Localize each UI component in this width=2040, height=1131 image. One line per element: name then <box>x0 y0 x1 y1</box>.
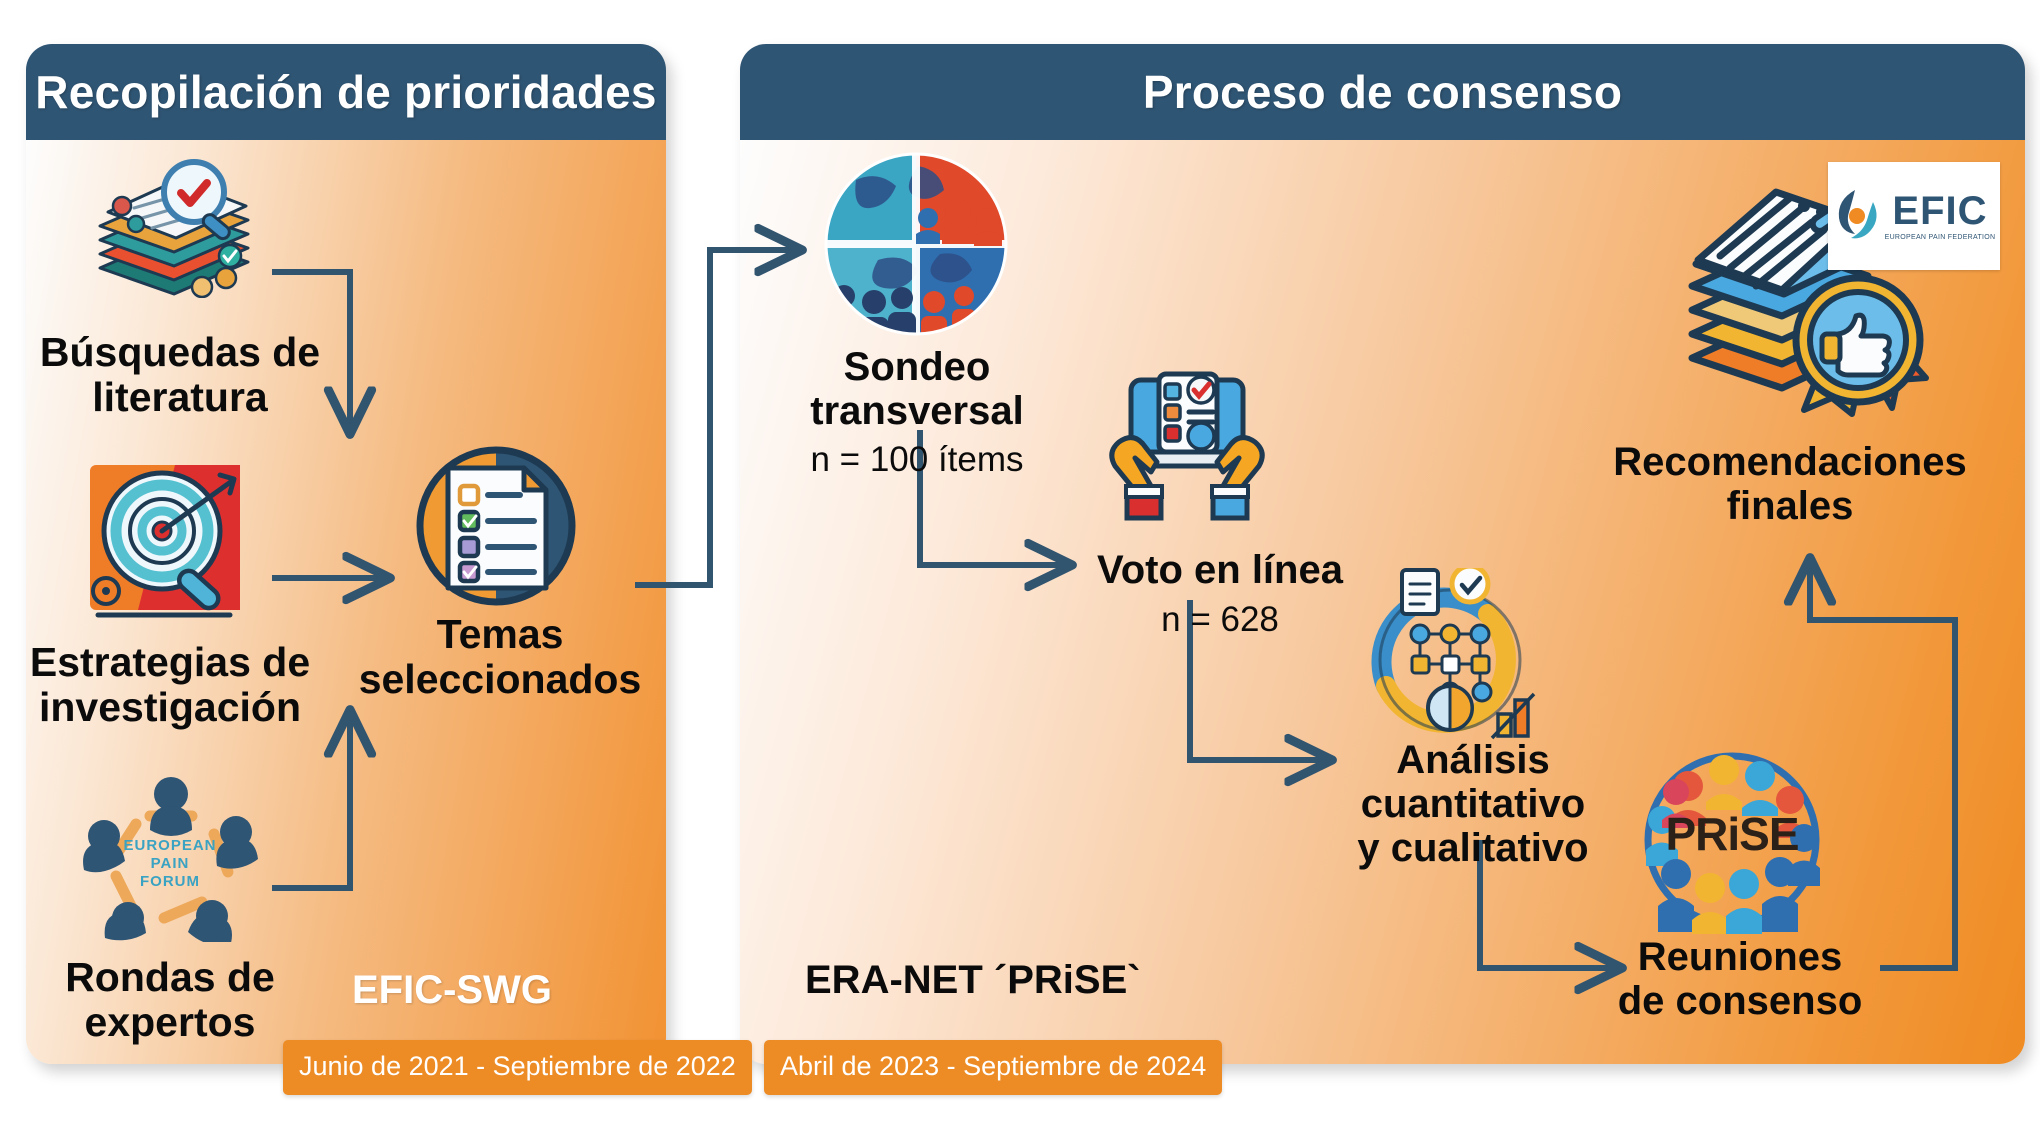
panel-right-header: Proceso de consenso <box>740 44 2025 140</box>
efic-logo: EFIC EUROPEAN PAIN FEDERATION <box>1828 162 2000 270</box>
node-reuniones-label: Reuniones de consenso <box>1590 935 1890 1023</box>
document-stack-search-icon <box>78 158 268 298</box>
node-analisis-cuantitativo-y-cualitativo: Análisis cuantitativo y cualitativo <box>1318 738 1628 870</box>
node-sondeo-label: Sondeo transversal <box>772 345 1062 433</box>
node-recomendaciones-finales: Recomendaciones finales <box>1590 440 1990 528</box>
svg-text:PAIN: PAIN <box>151 855 190 872</box>
efic-logo-name: EFIC <box>1892 191 1987 231</box>
date-badge-era-net-prise: Abril de 2023 - Septiembre de 2024 <box>764 1040 1222 1095</box>
node-sondeo-transversal: Sondeo transversal n = 100 ítems <box>772 345 1062 480</box>
svg-text:EUROPEAN: EUROPEAN <box>123 837 216 854</box>
node-voto-label: Voto en línea <box>1055 548 1385 592</box>
node-estrategias-de-investigacion: Estrategias de investigación <box>10 640 330 730</box>
node-rondas-de-expertos: Rondas de expertos <box>20 955 320 1045</box>
node-sondeo-subvalue: n = 100 ítems <box>772 440 1062 480</box>
node-busquedas-label: Búsquedas de literatura <box>20 330 340 420</box>
node-rondas-label: Rondas de expertos <box>20 955 320 1045</box>
node-voto-subvalue: n = 628 <box>1055 600 1385 640</box>
target-magnifier-icon <box>80 455 255 630</box>
node-estrategias-label: Estrategias de investigación <box>10 640 330 730</box>
europe-globe-people-icon <box>822 150 1010 338</box>
hands-tablet-vote-icon <box>1105 368 1270 533</box>
svg-text:PRiSE: PRiSE <box>1665 808 1798 860</box>
node-reuniones-de-consenso: Reuniones de consenso <box>1590 935 1890 1023</box>
node-temas-seleccionados: Temas seleccionados <box>330 612 670 702</box>
data-analysis-cycle-icon <box>1358 568 1543 743</box>
panel-left-title: Recopilación de prioridades <box>35 65 656 119</box>
date-badge-efic-swg: Junio de 2021 - Septiembre de 2022 <box>283 1040 752 1095</box>
node-busquedas-de-literatura: Búsquedas de literatura <box>20 330 340 420</box>
prise-people-circle-logo-icon: PRiSE <box>1632 742 1832 937</box>
node-temas-label: Temas seleccionados <box>330 612 670 702</box>
svg-text:FORUM: FORUM <box>140 873 200 890</box>
node-voto-en-linea: Voto en línea n = 628 <box>1055 548 1385 640</box>
project-tag-efic-swg: EFIC-SWG <box>352 970 552 1010</box>
checklist-circle-icon <box>412 442 580 614</box>
panel-left-header: Recopilación de prioridades <box>26 44 666 140</box>
efic-logo-subtitle: EUROPEAN PAIN FEDERATION <box>1885 234 1996 241</box>
panel-right-title: Proceso de consenso <box>1143 65 1622 119</box>
node-analisis-label: Análisis cuantitativo y cualitativo <box>1318 738 1628 870</box>
project-tag-era-net-prise: ERA-NET ´PRiSE` <box>805 960 1141 1000</box>
node-recomendaciones-label: Recomendaciones finales <box>1590 440 1990 528</box>
efic-swirl-icon <box>1833 186 1881 246</box>
diagram-canvas: Recopilación de prioridades Proceso de c… <box>0 0 2040 1131</box>
european-pain-forum-logo-icon: EUROPEAN PAIN FORUM <box>78 772 263 942</box>
